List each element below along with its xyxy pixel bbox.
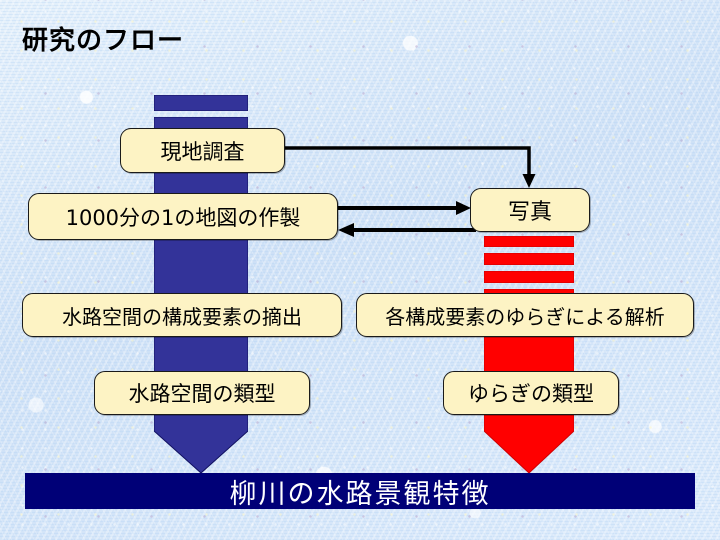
node-map-making-label: 1000分の1の地図の作製 — [66, 202, 301, 232]
node-fluctuation-typology[interactable]: ゆらぎの類型 — [443, 371, 619, 415]
red-arrow-segment-2 — [484, 253, 574, 265]
blue-arrow-shaft — [154, 238, 248, 473]
node-waterway-typology-label: 水路空間の類型 — [129, 378, 276, 408]
node-element-extraction-label: 水路空間の構成要素の摘出 — [62, 301, 302, 330]
red-arrow-segment-3 — [484, 271, 574, 283]
slide-canvas: 研究のフロー — [0, 0, 720, 540]
red-arrow-segment-1 — [484, 236, 574, 247]
connector-survey-to-photo — [284, 143, 544, 193]
node-fluctuation-typology-label: ゆらぎの類型 — [468, 378, 594, 408]
node-waterway-typology[interactable]: 水路空間の類型 — [94, 371, 310, 415]
blue-arrow-segment-3 — [154, 170, 248, 195]
conclusion-banner-label: 柳川の水路景観特徴 — [230, 472, 491, 511]
blue-arrow-segment-top — [154, 95, 248, 111]
node-fluctuation-analysis[interactable]: 各構成要素のゆらぎによる解析 — [356, 293, 694, 337]
conclusion-banner: 柳川の水路景観特徴 — [25, 473, 695, 509]
slide-background-speckle — [0, 0, 720, 540]
node-element-extraction[interactable]: 水路空間の構成要素の摘出 — [22, 293, 342, 337]
connector-map-to-photo — [338, 198, 474, 218]
node-field-survey-label: 現地調査 — [161, 136, 245, 166]
node-fluctuation-analysis-label: 各構成要素のゆらぎによる解析 — [385, 301, 664, 330]
connector-photo-to-map — [336, 220, 476, 240]
node-map-making[interactable]: 1000分の1の地図の作製 — [28, 193, 338, 240]
node-photo-label: 写真 — [508, 194, 552, 226]
node-photo[interactable]: 写真 — [470, 188, 590, 232]
node-field-survey[interactable]: 現地調査 — [120, 128, 285, 173]
page-title: 研究のフロー — [22, 20, 184, 57]
